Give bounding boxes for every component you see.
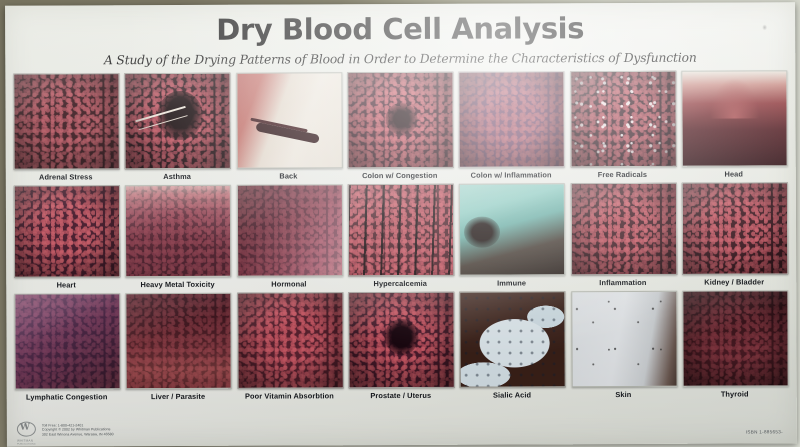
specimen-image[interactable] [348, 184, 454, 276]
glare [126, 186, 230, 276]
specimen-label: Colon w/ Inflammation [459, 170, 563, 179]
specimen-image[interactable] [237, 292, 343, 388]
address-line: 302 East Winona Avenue, Warsaw, IN 46580 [42, 432, 114, 437]
glare [572, 292, 676, 386]
grid-row: Lymphatic Congestion Liver / Parasite [14, 290, 786, 401]
specimen-label: Thyroid [683, 389, 787, 398]
poster-header: Dry Blood Cell Analysis A Study of the D… [5, 4, 795, 67]
specimen-cell[interactable]: Adrenal Stress [13, 73, 117, 181]
specimen-cell[interactable]: Heavy Metal Toxicity [125, 185, 229, 289]
specimen-label: Poor Vitamin Absorbtion [237, 391, 341, 400]
specimen-label: Back [236, 171, 340, 180]
specimen-image[interactable] [125, 73, 231, 169]
specimen-image[interactable] [348, 292, 454, 388]
specimen-label: Heart [14, 280, 118, 289]
specimen-image[interactable] [570, 183, 676, 275]
glare [126, 74, 230, 168]
logo-subtitle: PUBLICATIONS [17, 443, 36, 446]
glare [683, 291, 787, 385]
specimen-cell[interactable]: Asthma [125, 73, 229, 181]
specimen-label: Liver / Parasite [126, 392, 230, 401]
surface-blemish [762, 24, 767, 30]
specimen-label: Head [682, 169, 786, 178]
specimen-label: Sialic Acid [460, 390, 564, 399]
specimen-image[interactable] [126, 293, 232, 389]
logo-initial: W [20, 423, 30, 433]
imprint-text: Toll Free: 1-800-421-2401 Copyright © 20… [42, 421, 114, 437]
glare [571, 184, 675, 274]
specimen-image[interactable] [236, 72, 342, 168]
specimen-cell[interactable]: Skin [571, 291, 675, 399]
specimen-label: Free Radicals [570, 170, 674, 179]
specimen-cell[interactable]: Head [681, 70, 785, 178]
specimen-image[interactable] [570, 71, 676, 167]
page-title: Dry Blood Cell Analysis [5, 10, 795, 47]
specimen-cell[interactable]: Sialic Acid [460, 291, 564, 399]
glare [238, 293, 342, 387]
grid-row: Adrenal Stress Asthma [13, 70, 785, 181]
specimen-image[interactable] [682, 182, 788, 274]
glare [460, 184, 564, 274]
specimen-cell[interactable]: Kidney / Bladder [682, 182, 786, 286]
specimen-image[interactable] [571, 291, 677, 387]
specimen-cell[interactable]: Heart [14, 185, 118, 289]
glare [127, 294, 231, 388]
specimen-cell[interactable]: Lymphatic Congestion [14, 293, 118, 401]
publisher-imprint: W WHITMAN PUBLICATIONS Toll Free: 1-800-… [17, 421, 114, 442]
glare [683, 183, 787, 273]
specimen-image[interactable] [682, 290, 788, 386]
specimen-cell[interactable]: Colon w/ Inflammation [459, 71, 563, 179]
screenshot-root: Dry Blood Cell Analysis A Study of the D… [0, 0, 800, 447]
specimen-label: Lymphatic Congestion [15, 392, 119, 401]
specimen-cell[interactable]: Colon w/ Congestion [347, 72, 451, 180]
specimen-cell[interactable]: Back [236, 72, 340, 180]
specimen-cell[interactable]: Hypercalcemia [348, 184, 452, 288]
specimen-image[interactable] [14, 185, 120, 277]
glare [348, 73, 452, 167]
specimen-grid: Adrenal Stress Asthma [13, 70, 786, 405]
specimen-cell[interactable]: Free Radicals [570, 71, 674, 179]
page-subtitle: A Study of the Drying Patterns of Blood … [5, 50, 795, 67]
specimen-label: Inflammation [571, 278, 675, 287]
specimen-label: Immune [460, 278, 564, 287]
glare [14, 74, 118, 168]
specimen-image[interactable] [459, 71, 565, 167]
specimen-cell[interactable]: Immune [459, 183, 563, 287]
whitman-logo-icon: W WHITMAN PUBLICATIONS [17, 422, 37, 443]
glare [15, 186, 119, 276]
specimen-image[interactable] [13, 73, 119, 169]
glare [682, 71, 786, 165]
specimen-image[interactable] [236, 184, 342, 276]
poster: Dry Blood Cell Analysis A Study of the D… [5, 2, 797, 446]
glare [349, 293, 453, 387]
specimen-label: Asthma [125, 172, 229, 181]
specimen-image[interactable] [459, 183, 565, 275]
specimen-label: Adrenal Stress [14, 172, 118, 181]
specimen-label: Kidney / Bladder [682, 277, 786, 286]
specimen-label: Skin [571, 390, 675, 399]
specimen-cell[interactable]: Liver / Parasite [126, 293, 230, 401]
specimen-cell[interactable]: Hormonal [236, 184, 340, 288]
specimen-label: Hypercalcemia [348, 279, 452, 288]
specimen-image[interactable] [460, 291, 566, 387]
specimen-label: Prostate / Uterus [349, 391, 453, 400]
glare [237, 185, 341, 275]
glare [237, 73, 341, 167]
glare [460, 72, 564, 166]
specimen-label: Hormonal [237, 279, 341, 288]
specimen-label: Colon w/ Congestion [348, 171, 452, 180]
specimen-image[interactable] [347, 72, 453, 168]
specimen-label: Heavy Metal Toxicity [126, 280, 230, 289]
specimen-cell[interactable]: Prostate / Uterus [348, 292, 452, 400]
glare [15, 294, 119, 388]
specimen-image[interactable] [14, 293, 120, 389]
specimen-cell[interactable]: Poor Vitamin Absorbtion [237, 292, 341, 400]
glare [571, 72, 675, 166]
glare [349, 185, 453, 275]
poster-footer: W WHITMAN PUBLICATIONS Toll Free: 1-800-… [7, 413, 797, 446]
specimen-image[interactable] [125, 185, 231, 277]
specimen-cell[interactable]: Thyroid [682, 290, 786, 398]
glare [461, 292, 565, 386]
specimen-image[interactable] [681, 70, 787, 166]
grid-row: Heart Heavy Metal Toxicity Hormonal [14, 182, 786, 289]
isbn-text: ISBN 1-885653- [746, 429, 783, 434]
specimen-cell[interactable]: Inflammation [570, 183, 674, 287]
